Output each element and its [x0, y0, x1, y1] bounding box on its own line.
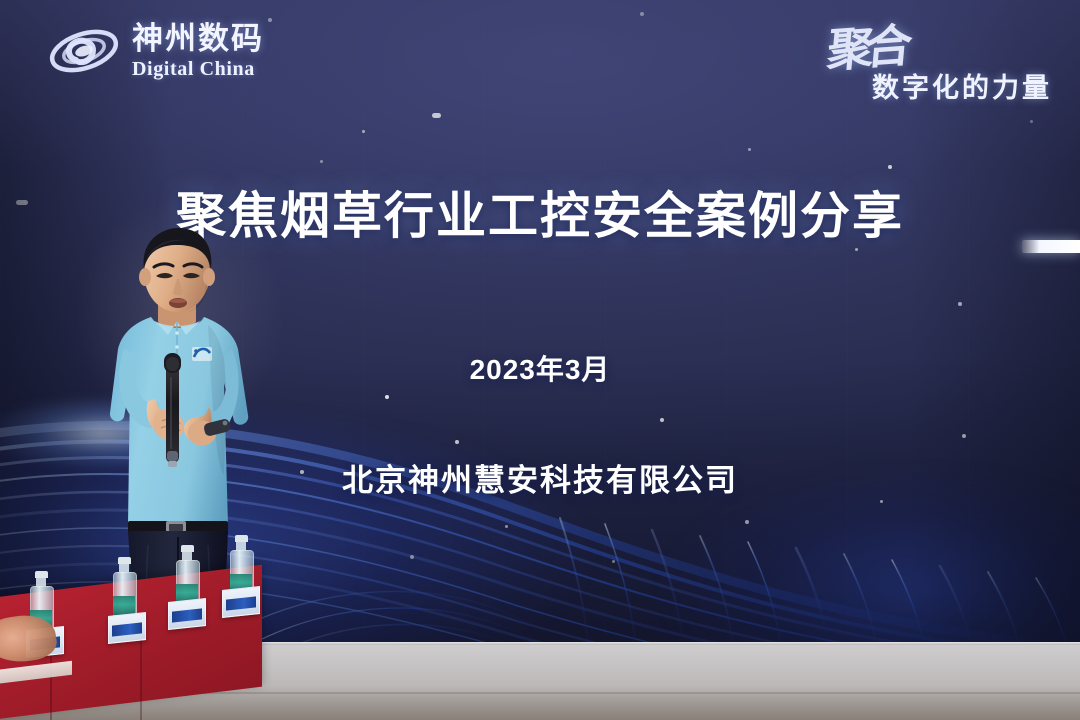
bottle-cap: [118, 557, 131, 564]
name-card-band: [172, 608, 202, 622]
conference-photo: 神州数码 Digital China 聚合 数字化的力量 聚焦烟草行业工控安全案…: [0, 0, 1080, 720]
bottle-cap: [35, 571, 48, 578]
name-card-band: [226, 596, 256, 610]
delegate-name-card: [222, 586, 260, 618]
particle-dot: [1030, 120, 1033, 123]
juhe-tagline: 数字化的力量: [872, 66, 1052, 105]
delegate-name-card: [168, 598, 206, 630]
foreground-head-table: [0, 560, 280, 720]
particle-dot: [268, 18, 272, 22]
digital-china-wordmark: 神州数码 Digital China: [132, 23, 264, 79]
bottle-neck: [119, 564, 129, 572]
bottle-cap: [235, 535, 248, 542]
digital-china-swirl-icon: [46, 18, 122, 84]
particle-dot: [320, 160, 323, 163]
name-card-band: [112, 622, 142, 636]
particle-dot: [362, 130, 365, 133]
brand-name-cn: 神州数码: [132, 23, 264, 54]
bottle-neck: [182, 552, 192, 560]
delegate-name-card: [108, 612, 146, 644]
particle-dot: [640, 12, 644, 16]
particle-dot: [432, 113, 441, 118]
edge-light-strip: [1022, 240, 1080, 253]
particle-dot: [888, 165, 892, 169]
bottle-neck: [236, 542, 246, 550]
water-bottle: [113, 557, 135, 620]
digital-china-logo: 神州数码 Digital China: [46, 18, 264, 84]
bottle-label: [113, 596, 135, 615]
microphone-icon: [164, 353, 181, 467]
particle-dot: [855, 248, 858, 251]
juhe-logo: 聚合 数字化的力量: [794, 14, 1054, 110]
brand-name-en: Digital China: [132, 59, 264, 79]
bottle-neck: [36, 578, 46, 586]
particle-dot: [748, 148, 751, 151]
particle-dot: [958, 302, 962, 306]
polo-chest-logo: [192, 347, 212, 361]
bottle-cap: [181, 545, 194, 552]
